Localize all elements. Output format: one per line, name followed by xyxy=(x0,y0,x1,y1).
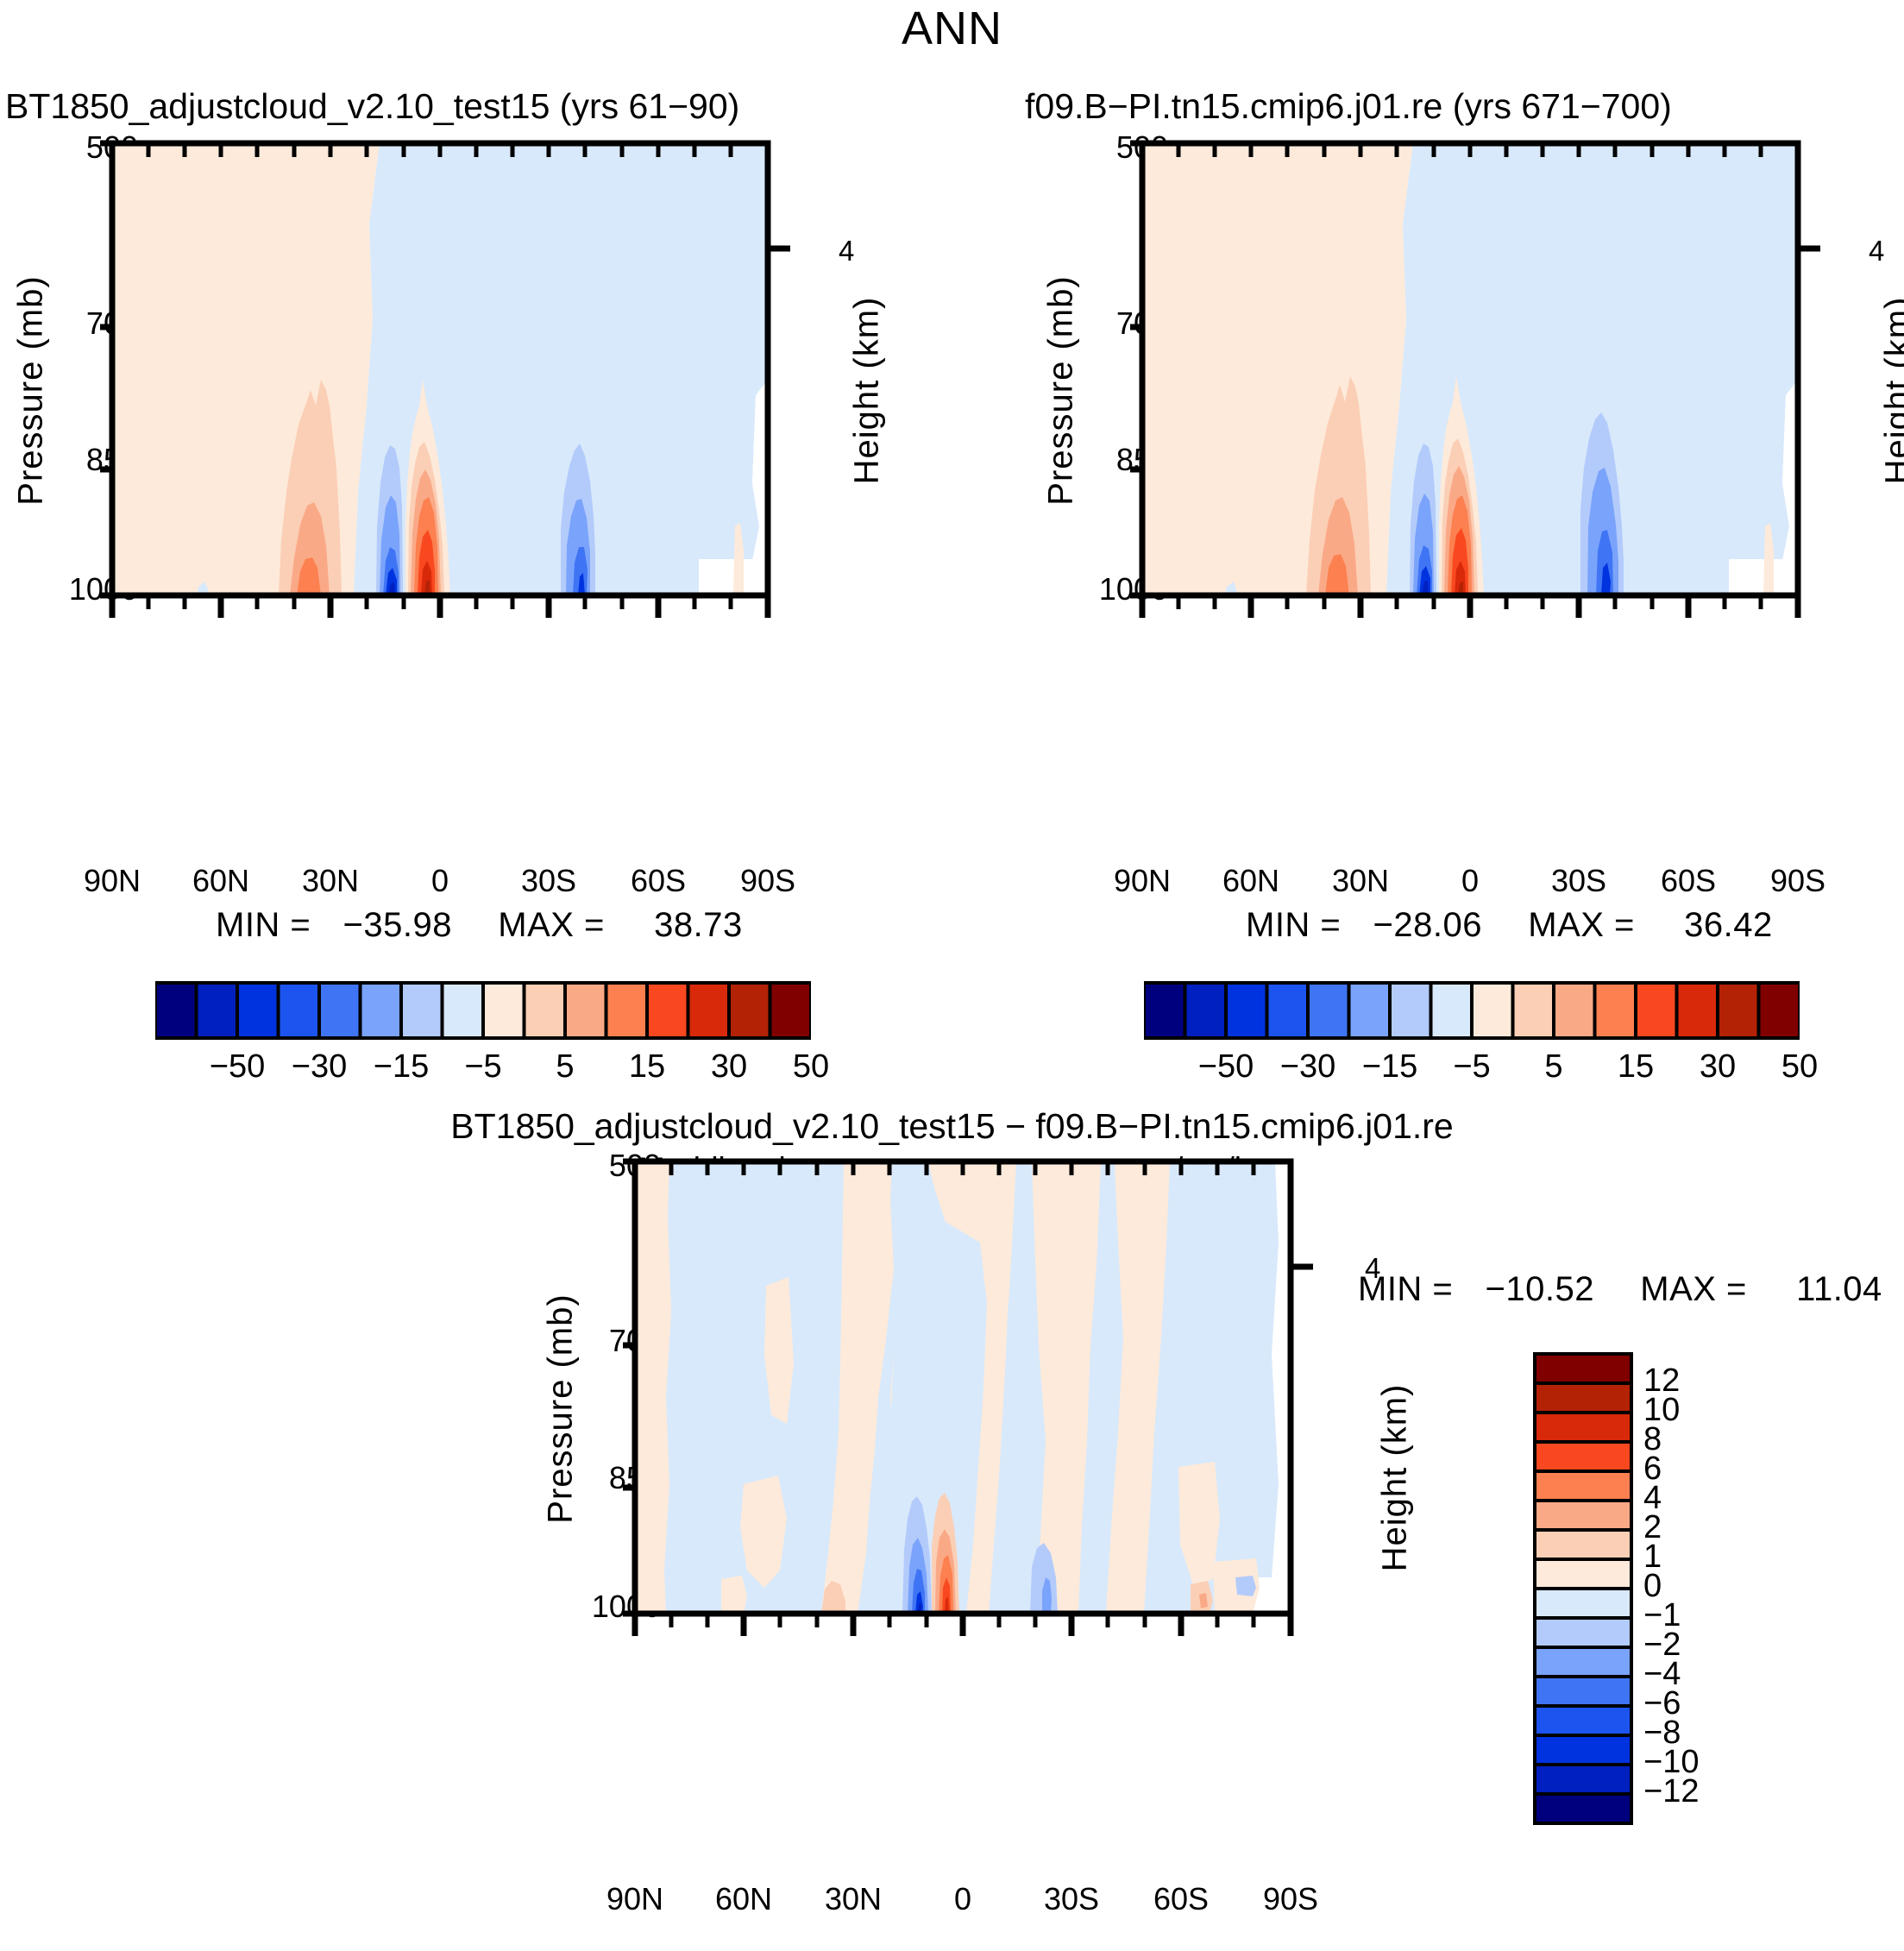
colorbar-tick-label: −15 xyxy=(1351,1048,1429,1086)
colorbar-tick-label: −30 xyxy=(280,1048,358,1086)
colorbar-tick-label: −30 xyxy=(1269,1048,1347,1086)
max-label-panel-2: MAX = xyxy=(1528,906,1635,944)
max-value-panel-1: 38.73 xyxy=(654,906,743,944)
colorbar-tick-label: −12 xyxy=(1643,1773,1773,1810)
colorbar-cell xyxy=(483,983,525,1038)
colorbar-cell xyxy=(1535,1354,1631,1383)
colorbar-tick-label: 50 xyxy=(772,1048,850,1086)
colorbar-cell xyxy=(1595,983,1637,1038)
x-tick-60N-panel-2: 60N xyxy=(1208,863,1294,899)
colorbar-tick-label: −5 xyxy=(1433,1048,1511,1086)
colorbar-cell xyxy=(1144,983,1185,1038)
colorbar-cell xyxy=(525,983,566,1038)
colorbar-cell xyxy=(647,983,688,1038)
colorbar-panel-2[interactable] xyxy=(1144,979,1800,1042)
colorbar-cell xyxy=(1535,1413,1631,1442)
colorbar-cell xyxy=(319,983,361,1038)
minmax-panel-1: MIN = −35.98 MAX = 38.73 xyxy=(216,906,743,945)
colorbar-cell xyxy=(1535,1471,1631,1501)
x-tick-30S-panel-2: 30S xyxy=(1536,863,1622,899)
colorbar-cell xyxy=(1472,983,1513,1038)
colorbar-cell xyxy=(1535,1589,1631,1618)
x-tick-30S-panel-1: 30S xyxy=(506,863,592,899)
right-axis-label-panel-3: Height (km) xyxy=(1376,1349,1415,1608)
colorbar-cell xyxy=(1718,983,1759,1038)
colorbar-cell xyxy=(1535,1706,1631,1735)
max-value-panel-2: 36.42 xyxy=(1684,906,1773,944)
min-label-panel-3: MIN = xyxy=(1358,1270,1453,1308)
y-axis-label-panel-2: Pressure (mb) xyxy=(1042,261,1081,520)
contour-field-panel-2 xyxy=(1142,143,1798,595)
colorbar-tick-label: 5 xyxy=(526,1048,604,1086)
colorbar-cell xyxy=(443,983,484,1038)
y-axis-label-panel-1: Pressure (mb) xyxy=(12,261,51,520)
x-tick-90N-panel-2: 90N xyxy=(1099,863,1185,899)
colorbar-cell xyxy=(1431,983,1473,1038)
min-label-panel-1: MIN = xyxy=(216,906,311,944)
min-label-panel-2: MIN = xyxy=(1246,906,1341,944)
colorbar-cell xyxy=(361,983,402,1038)
colorbar-cell xyxy=(1513,983,1555,1038)
colorbar-tick-label: 15 xyxy=(608,1048,686,1086)
colorbar-cell xyxy=(1535,1501,1631,1530)
x-tick-0-panel-1: 0 xyxy=(397,863,483,899)
colorbar-cell xyxy=(1636,983,1677,1038)
colorbar-cell xyxy=(1535,1765,1631,1794)
x-tick-60S-panel-1: 60S xyxy=(615,863,701,899)
colorbar-tick-label: 5 xyxy=(1515,1048,1593,1086)
x-tick-30N-panel-1: 30N xyxy=(287,863,374,899)
colorbar-cell xyxy=(1535,1647,1631,1677)
colorbar-cell xyxy=(237,983,279,1038)
colorbar-cell xyxy=(770,983,812,1038)
colorbar-cell xyxy=(1677,983,1719,1038)
colorbar-cell xyxy=(606,983,648,1038)
colorbar-cell xyxy=(1308,983,1349,1038)
colorbar-tick-label: −5 xyxy=(444,1048,522,1086)
colorbar-difference[interactable] xyxy=(1531,1350,1635,1827)
colorbar-difference-labels: 1210864210−1−2−4−6−8−10−12 xyxy=(1643,1350,1816,1827)
colorbar-tick-label: −50 xyxy=(1187,1048,1265,1086)
x-tick-90N-panel-1: 90N xyxy=(69,863,155,899)
colorbar-cell xyxy=(729,983,770,1038)
plot-area-panel-2 xyxy=(1125,121,1867,639)
colorbar-tick-label: 30 xyxy=(1679,1048,1756,1086)
colorbar-labels-panel-2: −50−30−15−55153050 xyxy=(1144,1048,1800,1092)
colorbar-panel-1[interactable] xyxy=(155,979,811,1042)
colorbar-cell xyxy=(688,983,730,1038)
min-value-panel-1: −35.98 xyxy=(343,906,452,944)
minmax-panel-2: MIN = −28.06 MAX = 36.42 xyxy=(1246,906,1773,945)
colorbar-cell xyxy=(1535,1383,1631,1413)
colorbar-tick-label: 50 xyxy=(1761,1048,1838,1086)
colorbar-cell xyxy=(1554,983,1595,1038)
contour-field-panel-1 xyxy=(112,143,768,595)
height-tick-label-panel-1: 4 xyxy=(839,235,854,267)
y-axis-label-panel-3: Pressure (mb) xyxy=(542,1280,581,1539)
x-tick-0-panel-2: 0 xyxy=(1427,863,1513,899)
figure-title: ANN xyxy=(0,2,1904,55)
x-tick-90N-panel-3: 90N xyxy=(592,1881,678,1917)
x-tick-90S-panel-2: 90S xyxy=(1755,863,1841,899)
colorbar-cell xyxy=(1535,1559,1631,1589)
x-tick-60S-panel-2: 60S xyxy=(1645,863,1731,899)
colorbar-cell xyxy=(401,983,443,1038)
colorbar-cell xyxy=(1759,983,1800,1038)
colorbar-cell xyxy=(1535,1735,1631,1765)
colorbar-cell xyxy=(1390,983,1431,1038)
colorbar-cell xyxy=(197,983,238,1038)
min-value-panel-2: −28.06 xyxy=(1373,906,1482,944)
x-tick-30N-panel-3: 30N xyxy=(810,1881,896,1917)
max-label-panel-1: MAX = xyxy=(498,906,605,944)
minmax-panel-3: MIN = −10.52 MAX = 11.04 xyxy=(1358,1270,1882,1309)
colorbar-cell xyxy=(1349,983,1391,1038)
x-tick-30N-panel-2: 30N xyxy=(1317,863,1404,899)
right-axis-label-panel-2: Height (km) xyxy=(1879,261,1904,520)
colorbar-tick-label: −15 xyxy=(362,1048,440,1086)
x-tick-90S-panel-1: 90S xyxy=(725,863,811,899)
colorbar-cell xyxy=(1185,983,1227,1038)
min-value-panel-3: −10.52 xyxy=(1486,1270,1594,1308)
colorbar-cell xyxy=(155,983,197,1038)
plot-area-panel-3 xyxy=(618,1139,1360,1657)
colorbar-cell xyxy=(1226,983,1267,1038)
x-tick-60N-panel-1: 60N xyxy=(178,863,264,899)
colorbar-tick-label: 30 xyxy=(690,1048,768,1086)
colorbar-cell xyxy=(1267,983,1309,1038)
colorbar-cell xyxy=(1535,1530,1631,1559)
x-tick-30S-panel-3: 30S xyxy=(1028,1881,1115,1917)
max-value-panel-3: 11.04 xyxy=(1796,1270,1882,1308)
colorbar-cell xyxy=(565,983,606,1038)
x-tick-60N-panel-3: 60N xyxy=(701,1881,787,1917)
colorbar-cell xyxy=(1535,1677,1631,1706)
colorbar-cell xyxy=(1535,1618,1631,1647)
colorbar-cell xyxy=(1535,1794,1631,1823)
contour-field-panel-3 xyxy=(635,1161,1291,1614)
colorbar-cell xyxy=(1535,1442,1631,1471)
max-label-panel-3: MAX = xyxy=(1640,1270,1747,1308)
colorbar-labels-panel-1: −50−30−15−55153050 xyxy=(155,1048,811,1092)
colorbar-cell xyxy=(279,983,320,1038)
x-tick-60S-panel-3: 60S xyxy=(1138,1881,1224,1917)
height-tick-label-panel-2: 4 xyxy=(1869,235,1884,267)
right-axis-label-panel-1: Height (km) xyxy=(848,261,887,520)
colorbar-tick-label: 15 xyxy=(1597,1048,1675,1086)
x-tick-0-panel-3: 0 xyxy=(920,1881,1006,1917)
plot-area-panel-1 xyxy=(95,121,837,639)
colorbar-tick-label: −50 xyxy=(198,1048,276,1086)
x-tick-90S-panel-3: 90S xyxy=(1247,1881,1334,1917)
